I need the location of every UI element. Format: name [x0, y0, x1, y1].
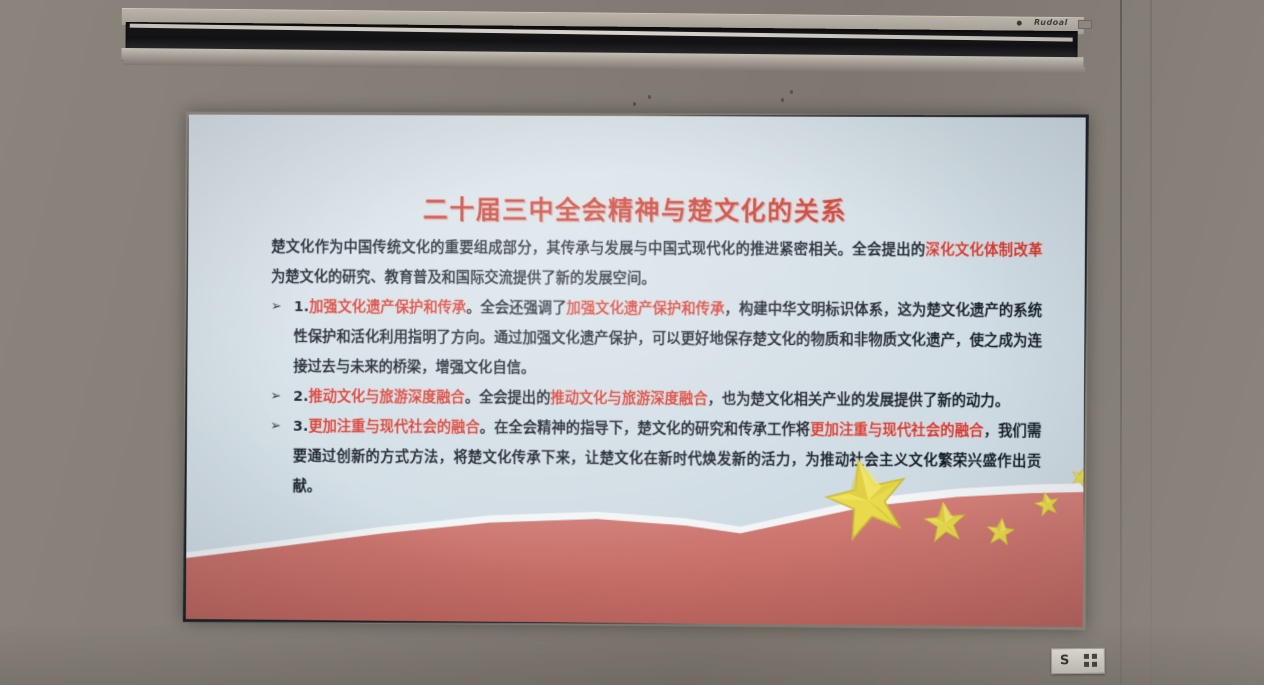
body-text-run: 为楚文化的研究、教育普及和国际交流提供了新的发展空间。 [271, 269, 656, 287]
slide-canvas: 二十届三中全会精神与楚文化的关系 楚文化作为中国传统文化的重要组成部分，其传承与… [186, 115, 1086, 627]
housing-end-cap [1078, 20, 1092, 29]
wall-plate-glyph: S [1060, 653, 1070, 668]
bullet-number: 2. [293, 389, 308, 405]
brand-dot-icon [1017, 21, 1022, 26]
highlighted-phrase: 推动文化与旅游深度融合 [550, 390, 707, 407]
wall-seam-line-secondary [1150, 0, 1152, 685]
wall-plate-square-icon [1084, 662, 1089, 667]
highlighted-phrase: 加强文化遗产保护和传承 [566, 301, 724, 318]
highlighted-phrase: 加强文化遗产保护和传承 [309, 299, 466, 316]
highlighted-phrase: 更加注重与现代社会的融合 [810, 422, 983, 439]
wall-speck [633, 102, 636, 106]
projected-slide: 二十届三中全会精神与楚文化的关系 楚文化作为中国传统文化的重要组成部分，其传承与… [183, 112, 1089, 631]
slide-body-text: 楚文化作为中国传统文化的重要组成部分，其传承与发展与中国式现代化的推进紧密相关。… [270, 232, 1043, 507]
slide-title: 二十届三中全会精神与楚文化的关系 [188, 189, 1085, 229]
bullet-arrow-icon: ➢ [270, 412, 281, 442]
wall-speck [781, 98, 784, 102]
bullet-arrow-icon: ➢ [270, 382, 281, 412]
body-text-run: 。在全会精神的指导下，楚文化的研究和传承工作将 [480, 420, 811, 438]
wall-speck [790, 90, 793, 94]
slide-bullet-item: ➢1.加强文化遗产保护和传承。全会还强调了加强文化遗产保护和传承，构建中华文明标… [270, 292, 1042, 386]
body-text-run: 。全会还强调了 [466, 300, 566, 317]
star-small-3-icon [1032, 489, 1063, 520]
wall-plate-square-icon [1092, 662, 1097, 667]
classroom-scene: Rudoal 二十届三中全会精神与楚文化的关系 楚文化作为中国传统文化的重要组成… [0, 0, 1264, 685]
wall-speck [648, 95, 651, 99]
bullet-number: 1. [294, 299, 309, 315]
body-text-run: ，也为楚文化相关产业的发展提供了新的动力。 [708, 391, 1010, 409]
screen-brand-label: Rudoal [1034, 18, 1068, 27]
star-small-1-icon [921, 498, 969, 546]
bullet-arrow-icon: ➢ [271, 292, 282, 322]
slide-paragraph: 楚文化作为中国传统文化的重要组成部分，其传承与发展与中国式现代化的推进紧密相关。… [271, 232, 1043, 296]
wall-plate-square-icon [1092, 654, 1097, 659]
star-small-2-icon [984, 515, 1017, 548]
body-text-run: 楚文化作为中国传统文化的重要组成部分，其传承与发展与中国式现代化的推进紧密相关。… [271, 239, 925, 258]
bullet-number: 3. [293, 419, 308, 435]
wall-seam-line [1120, 0, 1122, 685]
highlighted-phrase: 深化文化体制改革 [925, 242, 1042, 259]
wall-plate[interactable]: S [1051, 648, 1105, 675]
highlighted-phrase: 更加注重与现代社会的融合 [308, 419, 480, 436]
projector-screen-housing: Rudoal [121, 0, 1084, 79]
body-text-run: 。全会提出的 [465, 390, 551, 407]
wall-plate-square-icon [1084, 654, 1089, 659]
highlighted-phrase: 推动文化与旅游深度融合 [308, 389, 464, 406]
